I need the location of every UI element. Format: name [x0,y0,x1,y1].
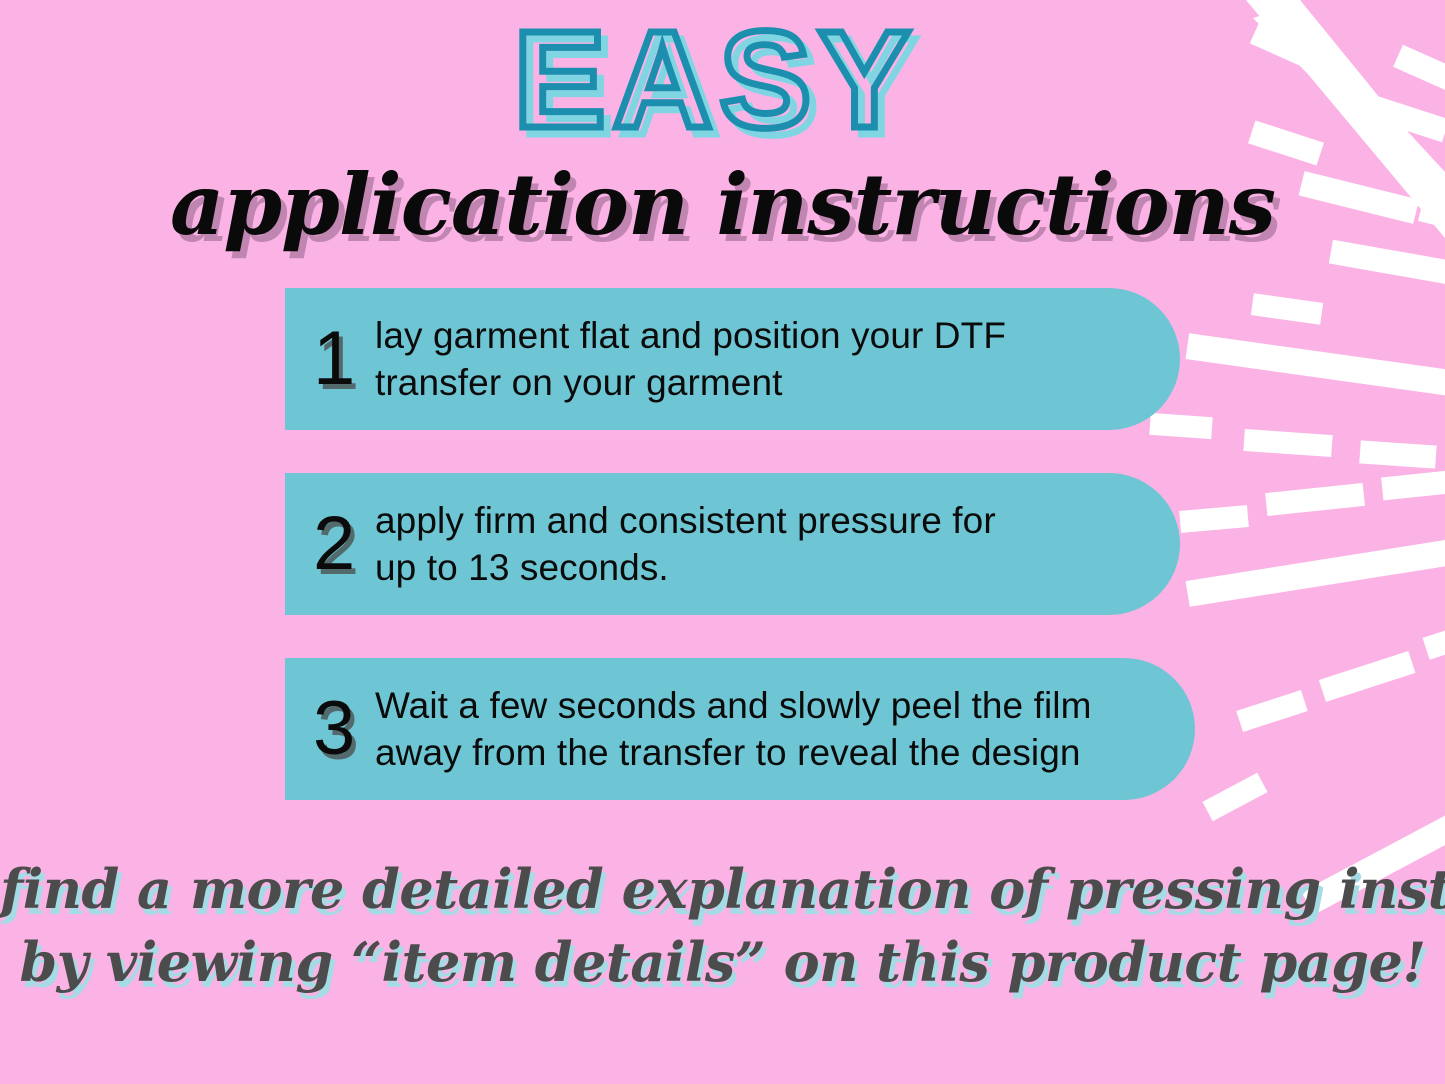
step-number-3: 3 [313,691,375,767]
step-text-2-line-2: up to 13 seconds. [375,544,1160,591]
step-text-1-line-1: lay garment flat and position your DTF [375,312,1160,359]
steps-list: 1 lay garment flat and position your DTF… [285,288,1195,843]
footer-note-line-2: by viewing “item details” on this produc… [0,930,1445,994]
footer-note-line-1: find a more detailed explanation of pres… [0,857,1445,921]
step-text-3: Wait a few seconds and slowly peel the f… [375,682,1195,777]
step-text-2: apply firm and consistent pressure for u… [375,497,1180,592]
step-item-1: 1 lay garment flat and position your DTF… [285,288,1180,430]
instruction-poster: EASY EASY application instructions 1 lay… [0,0,1445,1084]
step-text-3-line-2: away from the transfer to reveal the des… [375,729,1175,776]
eyebrow-text: EASY [0,11,1438,149]
step-text-1-line-2: transfer on your garment [375,359,1160,406]
step-item-3: 3 Wait a few seconds and slowly peel the… [285,658,1195,800]
step-text-2-line-1: apply firm and consistent pressure for [375,497,1160,544]
step-number-2: 2 [313,506,375,582]
step-number-1: 1 [313,321,375,397]
step-text-3-line-1: Wait a few seconds and slowly peel the f… [375,682,1175,729]
page-title: application instructions [0,155,1445,254]
step-item-2: 2 apply firm and consistent pressure for… [285,473,1180,615]
step-text-1: lay garment flat and position your DTF t… [375,312,1180,407]
